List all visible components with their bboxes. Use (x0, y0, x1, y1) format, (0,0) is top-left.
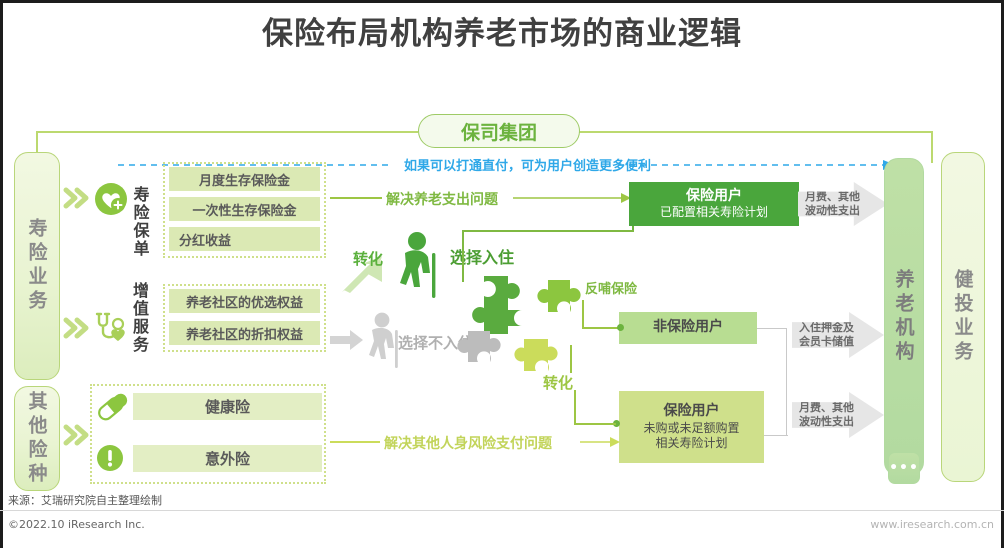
top-border (0, 0, 1004, 3)
conn-j (574, 390, 576, 424)
feedback-insurance-label: 反哺保险 (585, 278, 637, 297)
user-box-subtitle: 未购或未足额购置 相关寿险计划 (643, 421, 739, 451)
other-risk-line-left (330, 441, 380, 443)
sidebar-item-life-business-label: 寿险业务 (24, 218, 51, 314)
conn-d (582, 327, 620, 329)
website-text: www.iresearch.com.cn (870, 518, 994, 531)
user-box-subtitle: 已配置相关寿险计划 (660, 205, 768, 220)
puzzle-piece-icon (536, 274, 592, 334)
heart-plus-icon (94, 182, 128, 216)
solve-pension-expense-label: 解决养老支出问题 (386, 189, 498, 209)
puzzle-piece-icon (458, 326, 514, 382)
conn-i (574, 423, 616, 425)
value-added-item-1[interactable]: 养老社区的折扣权益 (169, 321, 320, 345)
payment-arrow-deposit: 入住押金及 会员卡储值 (792, 312, 884, 358)
user-box-title: 保险用户 (686, 188, 742, 206)
value-added-group-label: 增值服务 (126, 282, 152, 358)
pension-expense-arrow (513, 189, 631, 207)
copyright-text: ©2022.10 iResearch Inc. (8, 518, 145, 531)
user-box-title: 保险用户 (664, 403, 720, 421)
footer-divider (0, 510, 1004, 511)
other-risk-arrow (580, 433, 620, 451)
choose-move-in-label: 选择入住 (450, 244, 514, 268)
solve-other-risk-label: 解决其他人身风险支付问题 (384, 433, 552, 453)
bracket-right-stem (931, 131, 933, 163)
life-policy-item-1[interactable]: 一次性生存保险金 (169, 197, 320, 221)
double-chevron-icon (64, 318, 90, 338)
double-chevron-icon (64, 425, 90, 445)
sidebar-item-elderly-institution[interactable]: 养老机构 (884, 158, 924, 476)
sidebar-item-other-insurance-label: 其他险种 (24, 391, 51, 487)
elderly-institution-more[interactable]: ••• (888, 452, 920, 484)
pension-line-left (330, 197, 382, 199)
elderly-person-green-icon (390, 231, 446, 301)
conn-h (764, 435, 788, 436)
conversion-bottom-label: 转化 (543, 372, 573, 393)
life-policy-item-2[interactable]: 分红收益 (169, 227, 320, 251)
user-box-insured-unconfigured[interactable]: 保险用户 未购或未足额购置 相关寿险计划 (619, 391, 764, 463)
sidebar-item-elderly-institution-label: 养老机构 (891, 269, 918, 365)
conversion-top-label: 转化 (353, 248, 383, 269)
stethoscope-heart-icon (94, 312, 130, 344)
bracket-left-arm (36, 131, 418, 133)
sidebar-item-health-investment[interactable]: 健投业务 (941, 152, 985, 482)
value-added-item-0[interactable]: 养老社区的优选权益 (169, 289, 320, 313)
user-box-insured-configured[interactable]: 保险用户 已配置相关寿险计划 (629, 182, 799, 226)
conn-f (757, 328, 787, 329)
bracket-right-arm (578, 131, 933, 133)
conn-c (462, 230, 464, 282)
user-box-title: 非保险用户 (653, 319, 723, 337)
group-header-label: 保司集团 (461, 118, 537, 145)
double-chevron-icon (64, 188, 90, 208)
payment-arrow-monthly-fee-bottom: 月费、其他 波动性支出 (792, 392, 884, 438)
left-border (0, 0, 3, 548)
conn-e (582, 300, 584, 328)
source-note: 来源：艾瑞研究院自主整理绘制 (8, 492, 162, 508)
user-box-non-insured[interactable]: 非保险用户 (619, 312, 757, 344)
other-insurance-item-1[interactable]: 意外险 (133, 445, 322, 472)
other-insurance-item-0[interactable]: 健康险 (133, 393, 322, 420)
no-move-in-arrow-icon (330, 327, 364, 353)
page-title: 保险布局机构养老市场的商业逻辑 (0, 8, 1004, 53)
sidebar-item-other-insurance[interactable]: 其他险种 (14, 386, 60, 491)
direct-pay-note: 如果可以打通直付，可为用户创造更多便利 (404, 155, 651, 174)
life-policy-group-label: 寿险保单 (126, 186, 152, 263)
sidebar-item-health-investment-label: 健投业务 (950, 269, 977, 365)
conn-g (786, 328, 787, 436)
sidebar-item-life-business[interactable]: 寿险业务 (14, 152, 60, 380)
slide-canvas: 保险布局机构养老市场的商业逻辑 保司集团 如果可以打通直付，可为用户创造更多便利… (0, 0, 1004, 548)
payment-arrow-monthly-fee-top: 月费、其他 波动性支出 (798, 182, 888, 226)
group-header-pill: 保司集团 (418, 114, 580, 148)
conn-b (462, 230, 634, 232)
life-policy-item-0[interactable]: 月度生存保险金 (169, 167, 320, 191)
conn-dot-1 (617, 324, 624, 331)
conversion-bottom-stem (570, 345, 572, 373)
